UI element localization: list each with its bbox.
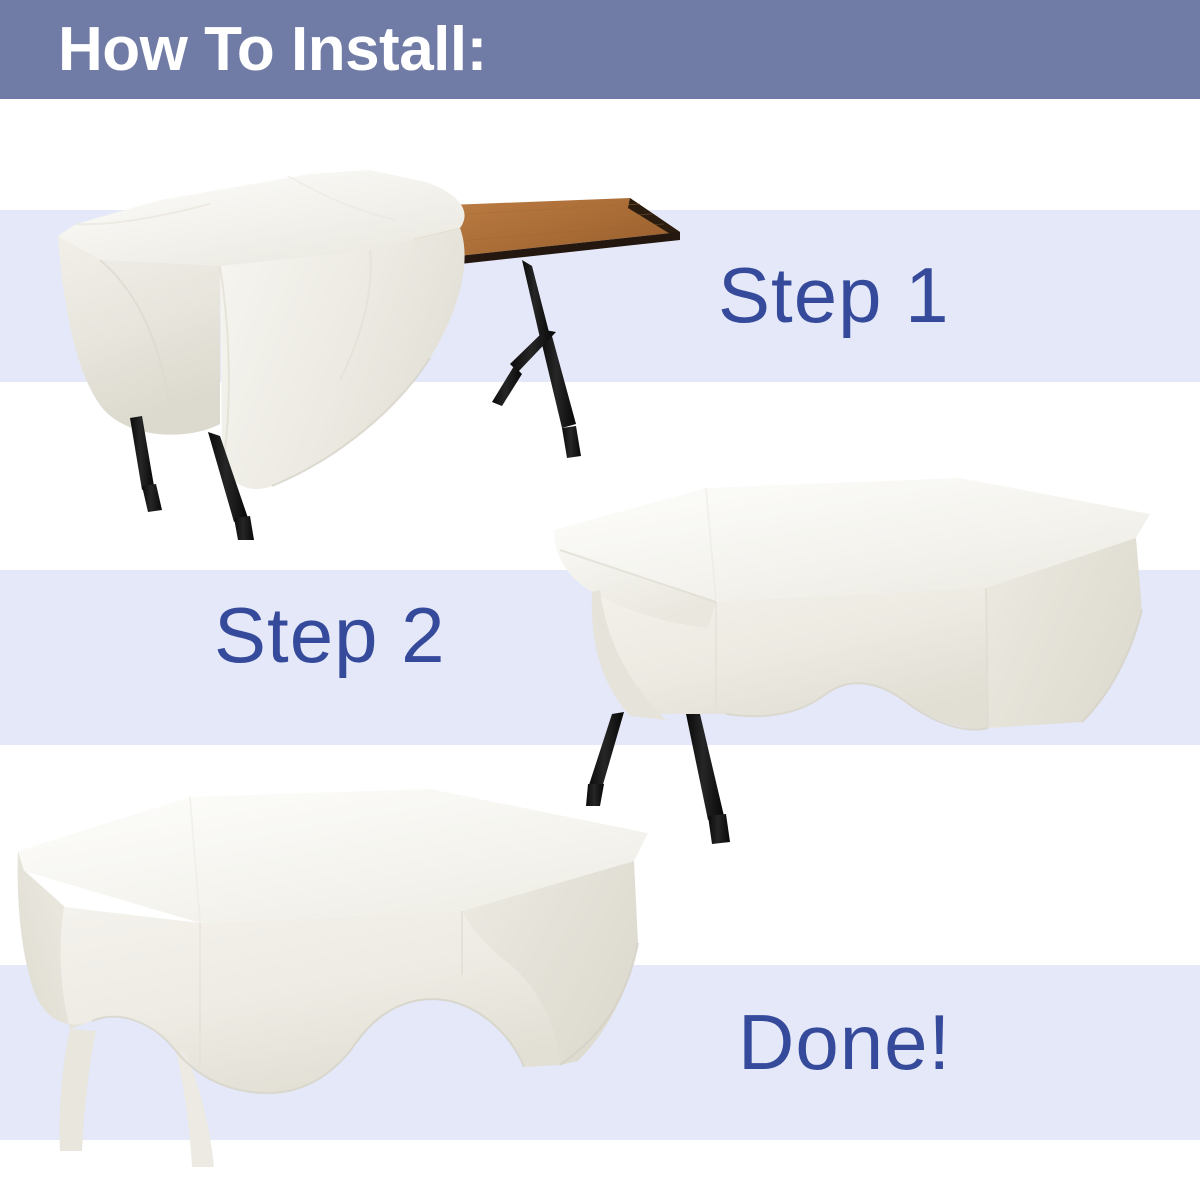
- header-band: How To Install:: [0, 0, 1200, 99]
- white-stretch-cover-draped: [58, 170, 465, 489]
- page-title: How To Install:: [58, 14, 487, 86]
- done-label: Done!: [738, 1003, 951, 1081]
- step-2-label: Step 2: [214, 596, 446, 674]
- how-to-install-infographic: How To Install: Step 1 Step 2 Done!: [0, 0, 1200, 1186]
- done-illustration: [0, 775, 690, 1185]
- step-1-label: Step 1: [718, 256, 950, 334]
- table-legs-right: [492, 260, 581, 458]
